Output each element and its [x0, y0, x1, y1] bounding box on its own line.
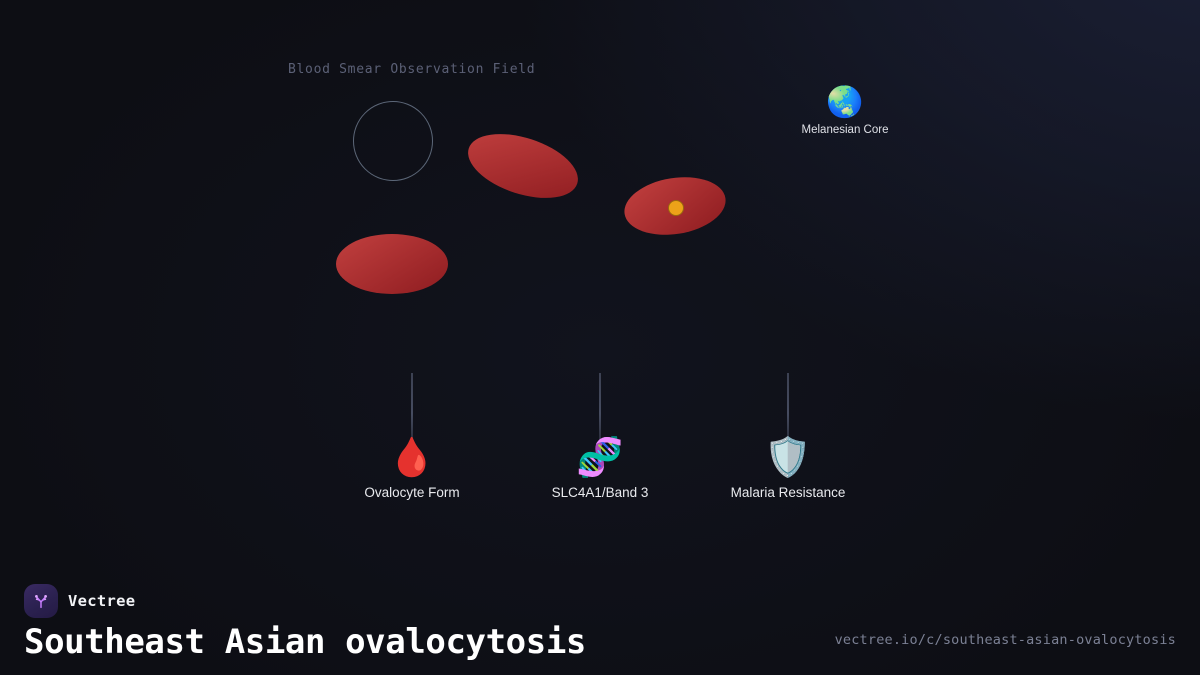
marker-leader-line [787, 373, 789, 441]
blood-drop-icon: 🩸 [327, 435, 497, 479]
marker-leader-line [599, 373, 601, 441]
region-badge[interactable]: 🌏 Melanesian Core [760, 86, 930, 136]
marker-label: Malaria Resistance [703, 485, 873, 500]
ovalocyte-cell-1 [460, 122, 586, 210]
ovalocyte-cell-3 [336, 234, 448, 294]
region-badge-label: Melanesian Core [760, 124, 930, 136]
vectree-tree-logo-icon [24, 584, 58, 618]
footer: Vectree Southeast Asian ovalocytosis vec… [0, 547, 1200, 675]
marker-label: SLC4A1/Band 3 [515, 485, 685, 500]
page-url[interactable]: vectree.io/c/southeast-asian-ovalocytosi… [835, 632, 1176, 648]
field-title: Blood Smear Observation Field [288, 62, 535, 77]
brand-name: Vectree [68, 592, 135, 610]
normal-biconcave-ghost-cell [353, 101, 433, 181]
page-root: Blood Smear Observation Field 🌏 Melanesi… [0, 0, 1200, 675]
page-title: Southeast Asian ovalocytosis [24, 622, 586, 662]
globe-asia-icon: 🌏 [760, 86, 930, 120]
malaria-parasite-inclusion [668, 200, 684, 216]
shield-icon: 🛡️ [703, 435, 873, 479]
brand[interactable]: Vectree [24, 584, 135, 618]
marker-leader-line [411, 373, 413, 441]
marker-label: Ovalocyte Form [327, 485, 497, 500]
dna-icon: 🧬 [515, 435, 685, 479]
